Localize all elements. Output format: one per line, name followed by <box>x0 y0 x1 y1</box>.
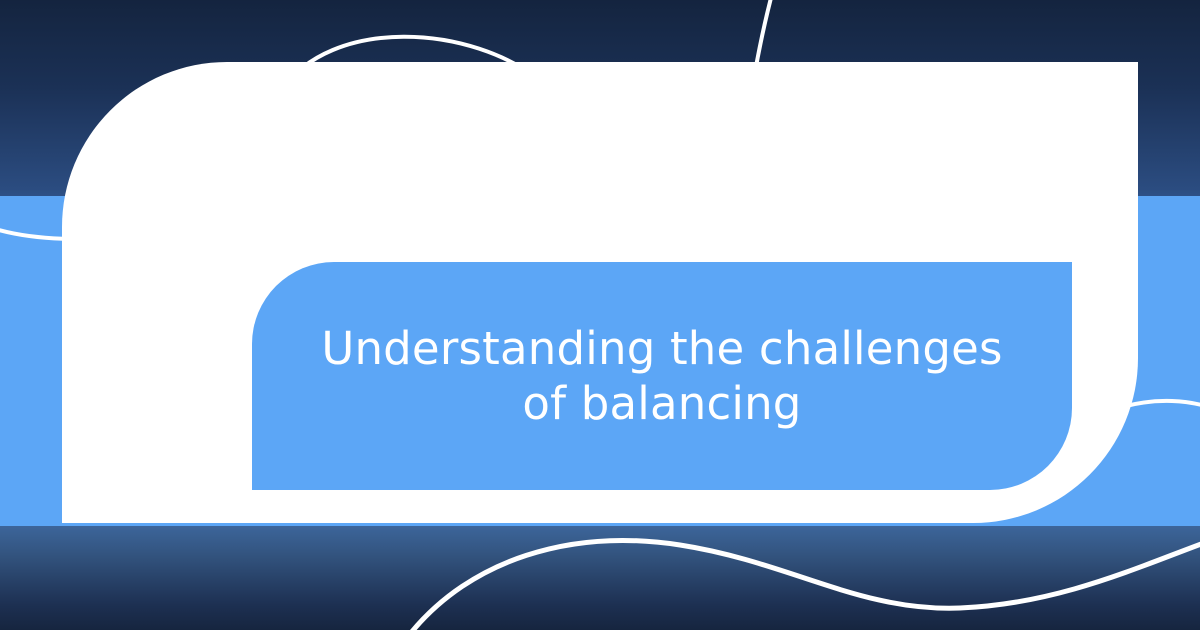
title-panel: Understanding the challenges of balancin… <box>252 262 1072 490</box>
share-card-canvas: Understanding the challenges of balancin… <box>0 0 1200 630</box>
page-title: Understanding the challenges of balancin… <box>277 321 1047 432</box>
content-card: Understanding the challenges of balancin… <box>62 62 1138 523</box>
